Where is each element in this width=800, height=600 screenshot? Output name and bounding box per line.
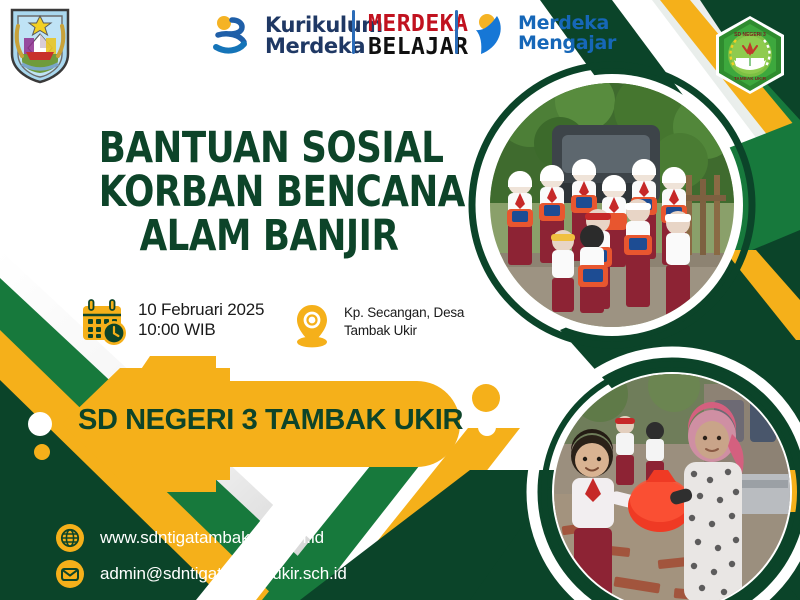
logo-divider-1	[352, 10, 355, 54]
event-date-line1: 10 Februari 2025	[138, 300, 264, 320]
website-text: www.sdntigatambakukir.sch.id	[100, 528, 324, 548]
logo-divider-2	[455, 10, 458, 54]
mm-line2: Mengajar	[518, 34, 616, 54]
mb-line1: MERDEKA	[368, 13, 468, 36]
kurikulum-merdeka-logo: Kurikulum Merdeka	[210, 8, 383, 64]
envelope-icon	[56, 560, 84, 588]
province-logo	[8, 6, 72, 86]
event-info-row: 10 Februari 2025 10:00 WIB Kp. Secangan,…	[80, 298, 500, 358]
contact-email[interactable]: admin@sdntigatambakukir.sch.id	[56, 560, 347, 588]
km-line2: Merdeka	[265, 36, 383, 57]
kurikulum-merdeka-figure-icon	[210, 13, 256, 59]
east-java-emblem-icon	[8, 6, 72, 86]
top-photo	[490, 83, 734, 327]
event-location-line2: Tambak Ukir	[344, 322, 464, 340]
merdeka-belajar-logo: MERDEKA BELAJAR	[368, 13, 468, 58]
school-logo: SD NEGERI 3 TAMBAK UKIR	[712, 14, 788, 96]
school-name-banner-label: SD NEGERI 3 TAMBAK UKIR	[78, 404, 463, 437]
top-photo-scene	[490, 83, 734, 327]
page-title: BANTUAN SOSIAL KORBAN BENCANA ALAM BANJI…	[84, 126, 454, 258]
event-location-text: Kp. Secangan, Desa Tambak Ukir	[344, 302, 464, 340]
map-pin-icon	[290, 302, 334, 350]
globe-icon	[56, 524, 84, 552]
calendar-clock-icon	[80, 298, 128, 346]
bottom-photo-scene	[554, 374, 790, 600]
title-line-2: KORBAN BENCANA	[99, 170, 439, 214]
email-text: admin@sdntigatambakukir.sch.id	[100, 564, 347, 584]
svg-text:TAMBAK UKIR: TAMBAK UKIR	[734, 76, 767, 81]
bottom-photo	[554, 374, 790, 600]
svg-text:SD NEGERI 3: SD NEGERI 3	[734, 32, 766, 38]
merdeka-mengajar-figure-icon	[470, 12, 510, 56]
kurikulum-merdeka-text: Kurikulum Merdeka	[265, 15, 383, 58]
contact-website[interactable]: www.sdntigatambakukir.sch.id	[56, 524, 324, 552]
event-date-item: 10 Februari 2025 10:00 WIB	[80, 298, 264, 346]
title-line-3: ALAM BANJIR	[99, 214, 439, 258]
merdeka-mengajar-text: Merdeka Mengajar	[518, 14, 616, 54]
merdeka-mengajar-logo: Merdeka Mengajar	[470, 12, 616, 56]
poster-canvas: Kurikulum Merdeka MERDEKA BELAJAR Merdek…	[0, 0, 800, 600]
mb-line2: BELAJAR	[368, 36, 468, 59]
school-emblem-icon: SD NEGERI 3 TAMBAK UKIR	[712, 14, 788, 96]
event-location-item: Kp. Secangan, Desa Tambak Ukir	[290, 302, 464, 350]
event-location-line1: Kp. Secangan, Desa	[344, 304, 464, 322]
event-date-text: 10 Februari 2025 10:00 WIB	[138, 298, 264, 340]
event-date-line2: 10:00 WIB	[138, 320, 264, 340]
km-line1: Kurikulum	[265, 15, 383, 36]
title-line-1: BANTUAN SOSIAL	[99, 126, 439, 170]
